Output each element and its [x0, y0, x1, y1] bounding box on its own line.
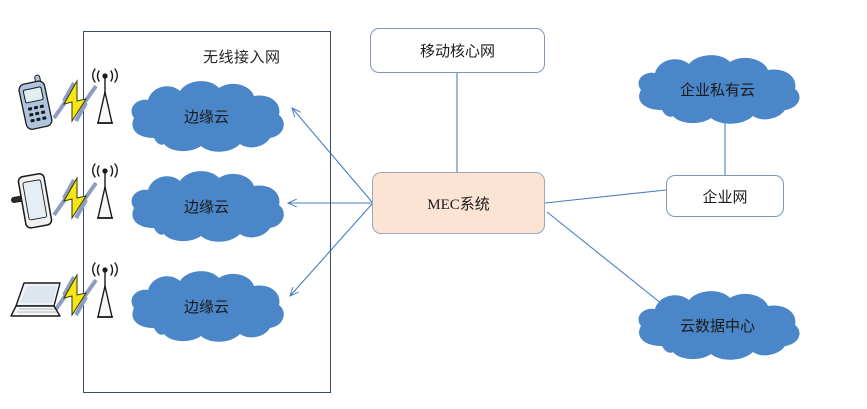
mobile-core-network-box[interactable]: 移动核心网	[370, 28, 545, 73]
mec-system-label: MEC系统	[427, 193, 490, 214]
mobile-phone-icon	[12, 72, 60, 134]
tablet-icon	[10, 170, 58, 232]
wireless-access-network-label: 无线接入网	[203, 46, 281, 67]
network-architecture-diagram: 无线接入网 边缘云 边缘云 边缘云	[0, 0, 867, 409]
mobile-core-network-label: 移动核心网	[420, 40, 495, 61]
enterprise-network-box[interactable]: 企业网	[666, 175, 784, 217]
laptop-icon	[10, 280, 68, 326]
wireless-signal-bolt-icon	[52, 175, 98, 221]
edge-cloud-2[interactable]: 边缘云	[124, 166, 289, 246]
enterprise-private-cloud[interactable]: 企业私有云	[630, 50, 805, 128]
mec-system-box[interactable]: MEC系统	[372, 172, 545, 234]
cloud-data-center[interactable]: 云数据中心	[630, 286, 805, 364]
link-mec-to-enterprise-net	[545, 190, 666, 203]
edge-cloud-3[interactable]: 边缘云	[124, 266, 289, 346]
enterprise-network-label: 企业网	[702, 186, 747, 207]
edge-cloud-1[interactable]: 边缘云	[124, 76, 289, 156]
